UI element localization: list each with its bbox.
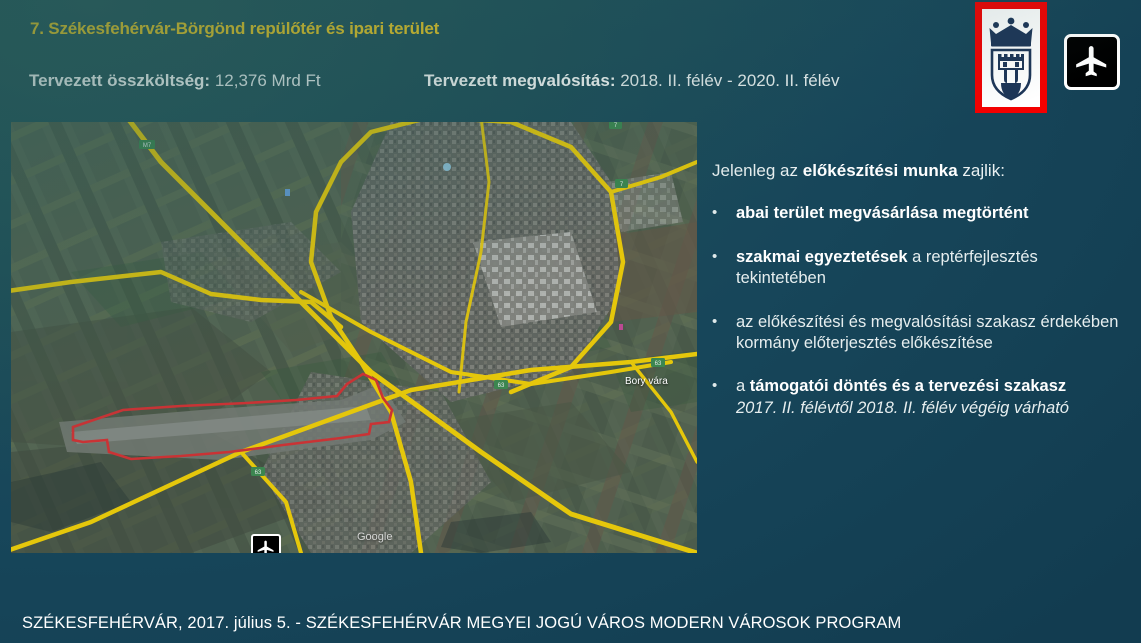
list-item: • abai terület megvásárlása megtörtént xyxy=(712,203,1132,224)
bullet-2-bold: szakmai egyeztetések xyxy=(736,248,908,266)
satellite-map[interactable]: M7 7 7 63 63 63 Google Bory vára xyxy=(11,122,697,553)
bullet-icon: • xyxy=(712,203,736,224)
planned-realization-value: 2018. II. félév - 2020. II. félév xyxy=(620,71,839,90)
bullet-text-4: a támogatói döntés és a tervezési szakas… xyxy=(736,376,1132,419)
airplane-marker-icon xyxy=(256,539,276,553)
slide-root: 7. Székesfehérvár-Börgönd repülőtér és i… xyxy=(0,0,1141,643)
bullet-icon: • xyxy=(712,376,736,419)
planned-cost-value: 12,376 Mrd Ft xyxy=(215,71,321,90)
airport-logo-badge xyxy=(1064,34,1120,90)
map-provider-watermark: Google xyxy=(357,531,392,543)
panel-lead-pre: Jelenleg az xyxy=(712,161,803,180)
szekesfehervar-coat-of-arms-icon xyxy=(985,13,1037,103)
panel-lead-bold: előkészítési munka xyxy=(803,161,958,180)
bullet-4-bold: támogatói döntés és a tervezési szakasz xyxy=(750,377,1066,395)
list-item: • a támogatói döntés és a tervezési szak… xyxy=(712,376,1132,419)
map-place-label-bory-vara: Bory vára xyxy=(625,376,668,387)
bullet-4-prefix: a xyxy=(736,377,750,395)
bullet-icon: • xyxy=(712,247,736,290)
city-crest-badge xyxy=(975,2,1047,113)
panel-lead-line: Jelenleg az előkészítési munka zajlik: xyxy=(712,160,1132,181)
status-panel: Jelenleg az előkészítési munka zajlik: •… xyxy=(712,160,1132,441)
bullet-text-3: az előkészítési és megvalósítási szakasz… xyxy=(736,312,1132,355)
bullet-text-2: szakmai egyeztetések a reptérfejlesztés … xyxy=(736,247,1132,290)
bullet-4-italic: 2017. II. félévtől 2018. II. félév végéi… xyxy=(736,399,1069,417)
bullet-1-bold: abai terület megvásárlása megtörtént xyxy=(736,204,1029,222)
planned-realization-line: Tervezett megvalósítás: 2018. II. félév … xyxy=(424,71,839,91)
planned-cost-label: Tervezett összköltség: xyxy=(29,71,210,90)
page-title: 7. Székesfehérvár-Börgönd repülőtér és i… xyxy=(30,19,439,39)
map-canvas[interactable]: M7 7 7 63 63 63 xyxy=(11,122,697,553)
airport-map-marker[interactable] xyxy=(251,534,281,553)
bullet-icon: • xyxy=(712,312,736,355)
bullet-text-1: abai terület megvásárlása megtörtént xyxy=(736,203,1132,224)
list-item: • szakmai egyeztetések a reptérfejleszté… xyxy=(712,247,1132,290)
city-crest-inner xyxy=(982,9,1040,107)
panel-lead-post: zajlik: xyxy=(958,161,1005,180)
planned-realization-label: Tervezett megvalósítás: xyxy=(424,71,615,90)
list-item: • az előkészítési és megvalósítási szaka… xyxy=(712,312,1132,355)
airplane-icon xyxy=(1073,43,1111,81)
footer-text: SZÉKESFEHÉRVÁR, 2017. július 5. - SZÉKES… xyxy=(22,614,901,633)
planned-cost-line: Tervezett összköltség: 12,376 Mrd Ft xyxy=(29,71,321,91)
